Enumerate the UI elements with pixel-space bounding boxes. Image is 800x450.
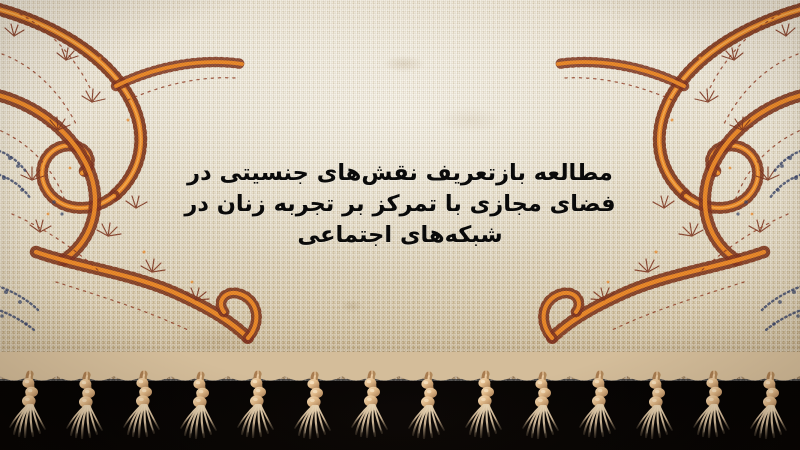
slide-canvas: مطالعه بازتعریف نقش‌های جنسیتی در فضای م… [0, 0, 800, 450]
embroidery-right [504, 0, 800, 381]
tassel-fringe [0, 352, 800, 450]
embroidery-left [0, 0, 296, 381]
